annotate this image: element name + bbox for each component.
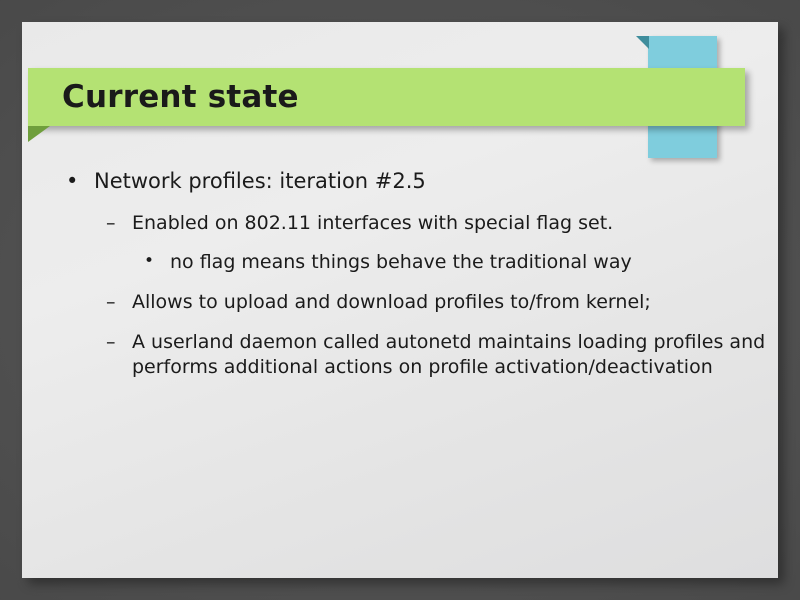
bullet-marker-icon: – (106, 290, 132, 315)
bullet-text: A userland daemon called autonetd mainta… (132, 330, 784, 380)
bullet-item-level2: – Allows to upload and download profiles… (106, 290, 784, 315)
slide-body: • Network profiles: iteration #2.5 – Ena… (44, 152, 784, 380)
bullet-item-level2: – Enabled on 802.11 interfaces with spec… (106, 211, 784, 236)
presentation-slide: Current state • Network profiles: iterat… (0, 0, 800, 600)
page-title: Current state (62, 82, 299, 113)
slide-title-band: Current state (28, 68, 745, 126)
bullet-marker-icon: – (106, 330, 132, 355)
title-band-fold-icon (28, 126, 50, 142)
bullet-text: Enabled on 802.11 interfaces with specia… (132, 211, 784, 236)
bullet-marker-icon: • (66, 168, 94, 196)
bullet-text: Allows to upload and download profiles t… (132, 290, 784, 315)
bullet-marker-icon: • (144, 250, 170, 272)
bullet-item-level1: • Network profiles: iteration #2.5 (66, 168, 784, 196)
bullet-item-level2: – A userland daemon called autonetd main… (106, 330, 784, 380)
bullet-marker-icon: – (106, 211, 132, 236)
slide-canvas: Current state • Network profiles: iterat… (22, 22, 778, 578)
bullet-text: no flag means things behave the traditio… (170, 250, 784, 275)
bullet-text: Network profiles: iteration #2.5 (94, 168, 784, 196)
bullet-item-level3: • no flag means things behave the tradit… (144, 250, 784, 275)
